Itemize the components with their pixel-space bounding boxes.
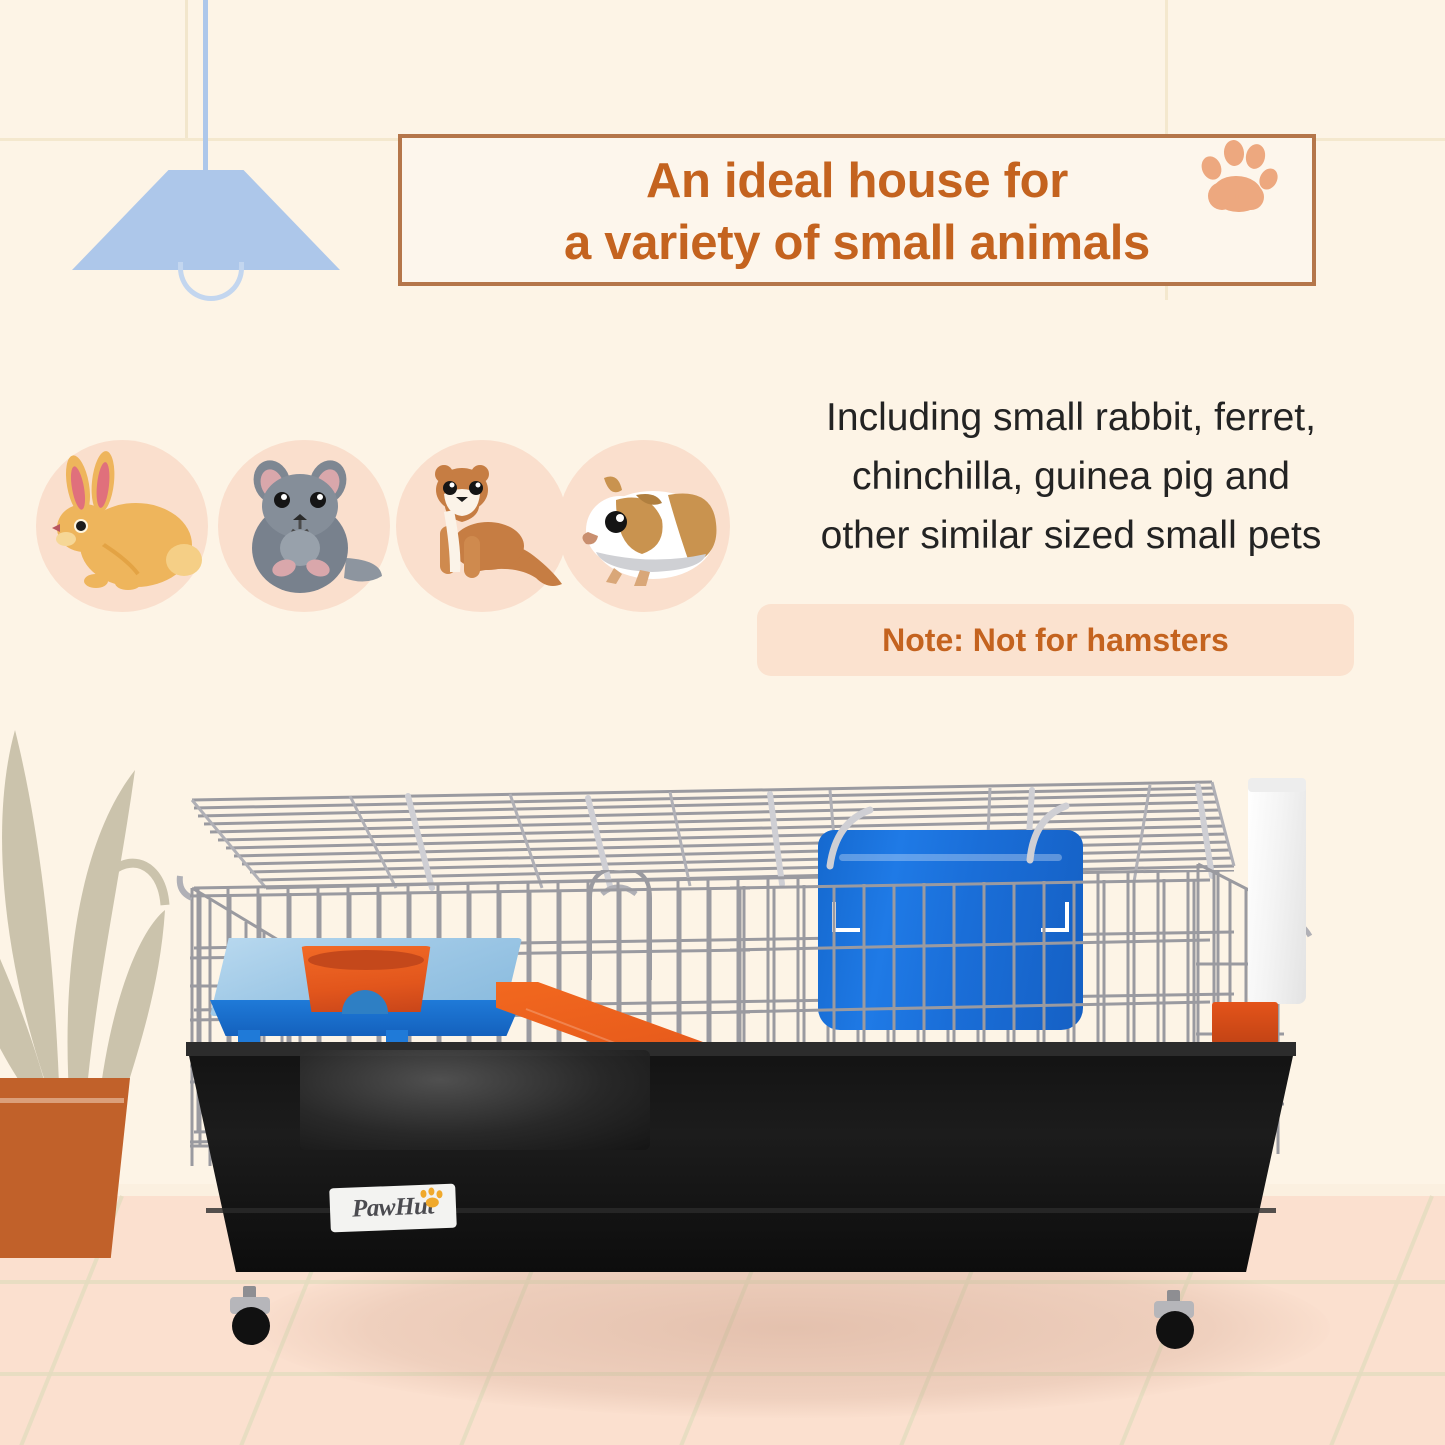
water-bottle-bracket bbox=[1212, 1002, 1278, 1044]
platform-assembly bbox=[210, 938, 522, 1050]
description-line-1: Including small rabbit, ferret, bbox=[735, 388, 1407, 447]
caster-tire bbox=[232, 1307, 270, 1345]
description-line-3: other similar sized small pets bbox=[735, 506, 1407, 565]
tray-bedding bbox=[300, 1050, 650, 1150]
headline-line-1: An ideal house for bbox=[402, 150, 1312, 212]
guinea-pig-icon bbox=[558, 440, 730, 612]
caster-wheel-right bbox=[1150, 1290, 1198, 1350]
pot-rim bbox=[0, 1098, 124, 1103]
lamp-cord bbox=[203, 0, 208, 172]
rabbit-icon bbox=[36, 440, 208, 612]
description-text: Including small rabbit, ferret, chinchil… bbox=[735, 388, 1407, 565]
brand-paw-icon bbox=[420, 1189, 447, 1210]
caster-tire bbox=[1156, 1311, 1194, 1349]
note-badge: Note: Not for hamsters bbox=[757, 604, 1354, 676]
ferret-icon bbox=[396, 440, 568, 612]
wall-seam-horizontal-right bbox=[1316, 138, 1445, 141]
water-bottle-cap bbox=[1248, 778, 1306, 792]
plant-pot bbox=[0, 1078, 130, 1258]
headline-box: An ideal house for a variety of small an… bbox=[398, 134, 1316, 286]
chinchilla-icon bbox=[218, 440, 390, 612]
wall-seam-left bbox=[185, 0, 188, 140]
caster-wheel-left bbox=[226, 1286, 274, 1346]
brand-logo: PawHut bbox=[329, 1184, 457, 1233]
wall-seam-horizontal-left bbox=[0, 138, 398, 141]
description-line-2: chinchilla, guinea pig and bbox=[735, 447, 1407, 506]
headline-line-2: a variety of small animals bbox=[402, 212, 1312, 274]
water-bottle bbox=[1248, 782, 1306, 1004]
note-text: Note: Not for hamsters bbox=[882, 622, 1229, 659]
product-marketing-image: An ideal house for a variety of small an… bbox=[0, 0, 1445, 1445]
food-bowl-interior bbox=[308, 950, 424, 970]
paw-print-icon bbox=[1196, 138, 1278, 212]
